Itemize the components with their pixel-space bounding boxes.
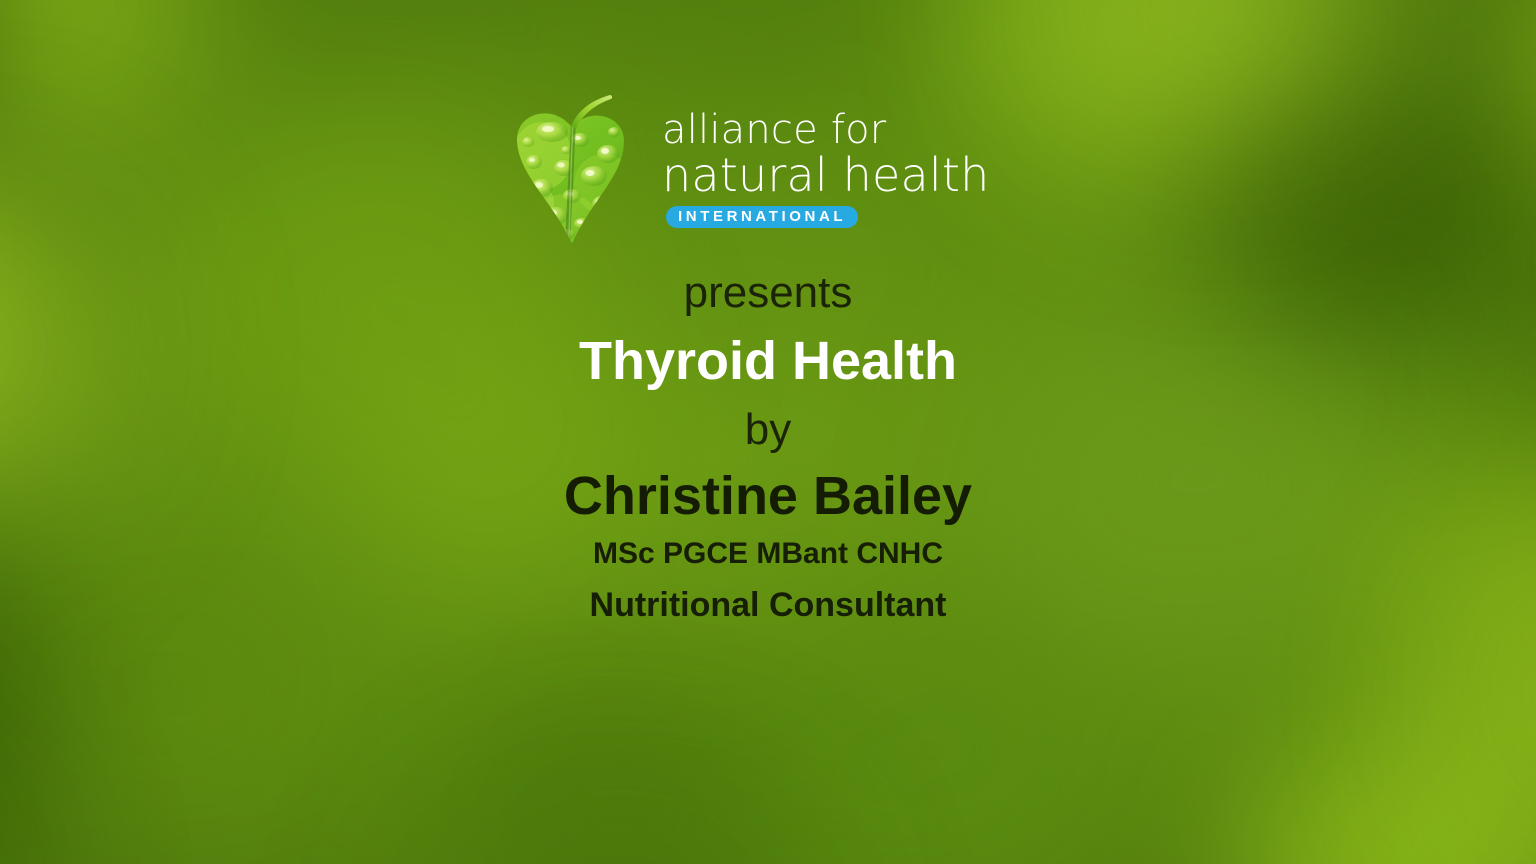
by-label: by: [0, 398, 1536, 462]
heart-leaf-waterdrops-icon: [508, 92, 658, 252]
international-badge: INTERNATIONAL: [666, 206, 858, 228]
speaker-role: Nutritional Consultant: [0, 578, 1536, 632]
title-slide: alliance for natural health INTERNATIONA…: [0, 0, 1536, 864]
wordmark-line-2: natural health: [662, 150, 956, 200]
speaker-name: Christine Bailey: [0, 462, 1536, 530]
wordmark-line-1: alliance for: [662, 108, 956, 152]
speaker-credentials: MSc PGCE MBant CNHC: [0, 530, 1536, 578]
anh-logo: alliance for natural health INTERNATIONA…: [508, 92, 956, 252]
topic-title: Thyroid Health: [0, 324, 1536, 398]
presents-label: presents: [0, 262, 1536, 324]
anh-wordmark: alliance for natural health INTERNATIONA…: [662, 108, 956, 228]
title-text-stack: presents Thyroid Health by Christine Bai…: [0, 262, 1536, 632]
